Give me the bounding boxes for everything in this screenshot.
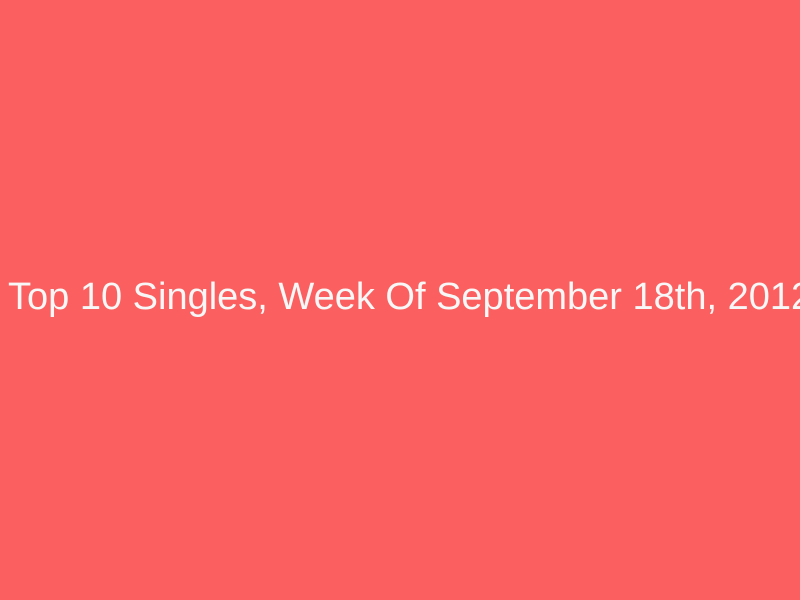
title-card: Top 10 Singles, Week Of September 18th, …	[0, 0, 800, 600]
page-title: Top 10 Singles, Week Of September 18th, …	[0, 275, 800, 319]
